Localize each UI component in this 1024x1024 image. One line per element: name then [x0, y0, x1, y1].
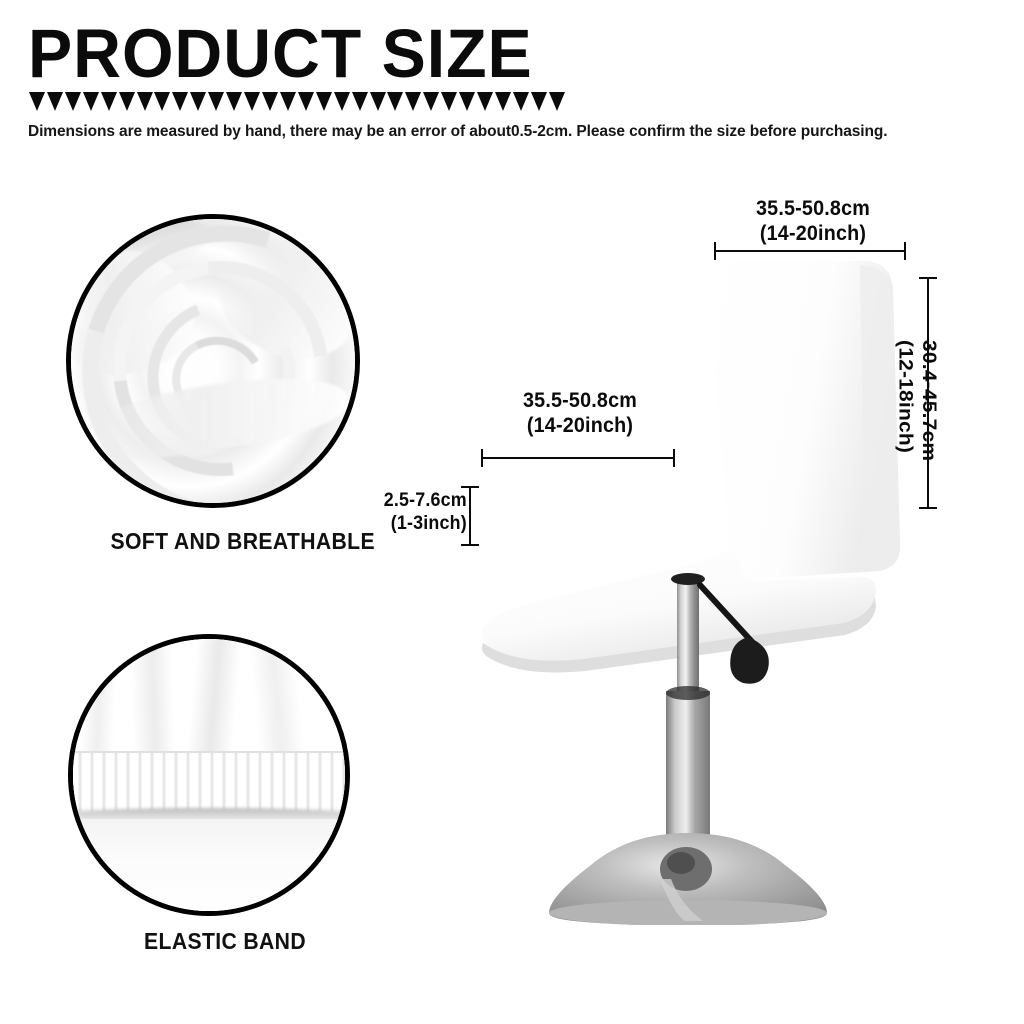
page-title: PRODUCT SIZE — [28, 18, 533, 90]
triangle-down-icon — [83, 92, 99, 111]
dimension-cap — [919, 507, 937, 509]
measurement-disclaimer: Dimensions are measured by hand, there m… — [28, 122, 887, 142]
triangle-down-icon — [495, 92, 511, 111]
elastic-band-strip — [68, 751, 350, 813]
elastic-band-photo — [68, 634, 350, 916]
backrest-height-inch: (12-18inch) — [894, 340, 918, 520]
triangle-down-icon — [29, 92, 45, 111]
triangle-down-icon — [190, 92, 206, 111]
seat-width-label: 35.5-50.8cm (14-20inch) — [488, 388, 672, 438]
triangle-down-icon — [226, 92, 242, 111]
triangle-down-icon — [441, 92, 457, 111]
triangle-down-icon — [459, 92, 475, 111]
triangle-down-icon — [154, 92, 170, 111]
triangle-down-icon — [316, 92, 332, 111]
triangle-down-icon — [137, 92, 153, 111]
backrest-width-cm: 35.5-50.8cm — [721, 196, 905, 221]
seat-width-cm: 35.5-50.8cm — [488, 388, 672, 413]
triangle-divider — [29, 92, 565, 114]
product-chair-image — [455, 245, 925, 925]
dimension-cap — [673, 449, 675, 467]
triangle-down-icon — [423, 92, 439, 111]
seat-thickness-cm: 2.5-7.6cm — [369, 489, 467, 512]
triangle-down-icon — [47, 92, 63, 111]
chrome-gas-lift-upper — [677, 577, 699, 697]
triangle-down-icon — [549, 92, 565, 111]
backrest-width-label: 35.5-50.8cm (14-20inch) — [721, 196, 905, 246]
elastic-band-caption: ELASTIC BAND — [144, 928, 306, 955]
backrest-height-dimension-line — [919, 277, 937, 509]
triangle-down-icon — [370, 92, 386, 111]
seat-thickness-dimension-line — [461, 486, 479, 546]
triangle-down-icon — [119, 92, 135, 111]
triangle-down-icon — [101, 92, 117, 111]
triangle-down-icon — [334, 92, 350, 111]
triangle-down-icon — [244, 92, 260, 111]
triangle-down-icon — [262, 92, 278, 111]
triangle-down-icon — [172, 92, 188, 111]
soft-breathable-caption: SOFT AND BREATHABLE — [110, 528, 374, 555]
dimension-bar — [927, 277, 929, 509]
fabric-swirl-texture — [66, 214, 360, 508]
chair-illustration — [455, 245, 925, 925]
fabric-gathers — [73, 639, 345, 753]
triangle-down-icon — [513, 92, 529, 111]
triangle-down-icon — [280, 92, 296, 111]
chrome-gas-lift-lower — [666, 691, 710, 851]
infographic-canvas: PRODUCT SIZE Dimensions are measured by … — [0, 0, 1024, 1024]
fabric-lower-panel — [73, 819, 345, 911]
triangle-down-icon — [65, 92, 81, 111]
triangle-down-icon — [352, 92, 368, 111]
triangle-down-icon — [477, 92, 493, 111]
dimension-bar — [469, 486, 471, 546]
dimension-cap — [904, 242, 906, 260]
seat-thickness-label: 2.5-7.6cm (1-3inch) — [369, 489, 467, 535]
seat-thickness-inch: (1-3inch) — [369, 512, 467, 535]
backrest-width-dimension-line — [714, 242, 906, 260]
dimension-cap — [461, 544, 479, 546]
seat-width-dimension-line — [481, 449, 675, 467]
soft-breathable-photo — [66, 214, 360, 508]
seat-width-inch: (14-20inch) — [488, 413, 672, 438]
gas-lift-lower-collar — [666, 686, 710, 700]
dimension-bar — [481, 457, 675, 459]
triangle-down-icon — [208, 92, 224, 111]
triangle-down-icon — [405, 92, 421, 111]
triangle-down-icon — [387, 92, 403, 111]
chrome-base-bolt-highlight — [667, 852, 695, 874]
triangle-down-icon — [298, 92, 314, 111]
triangle-down-icon — [531, 92, 547, 111]
dimension-bar — [714, 250, 906, 252]
